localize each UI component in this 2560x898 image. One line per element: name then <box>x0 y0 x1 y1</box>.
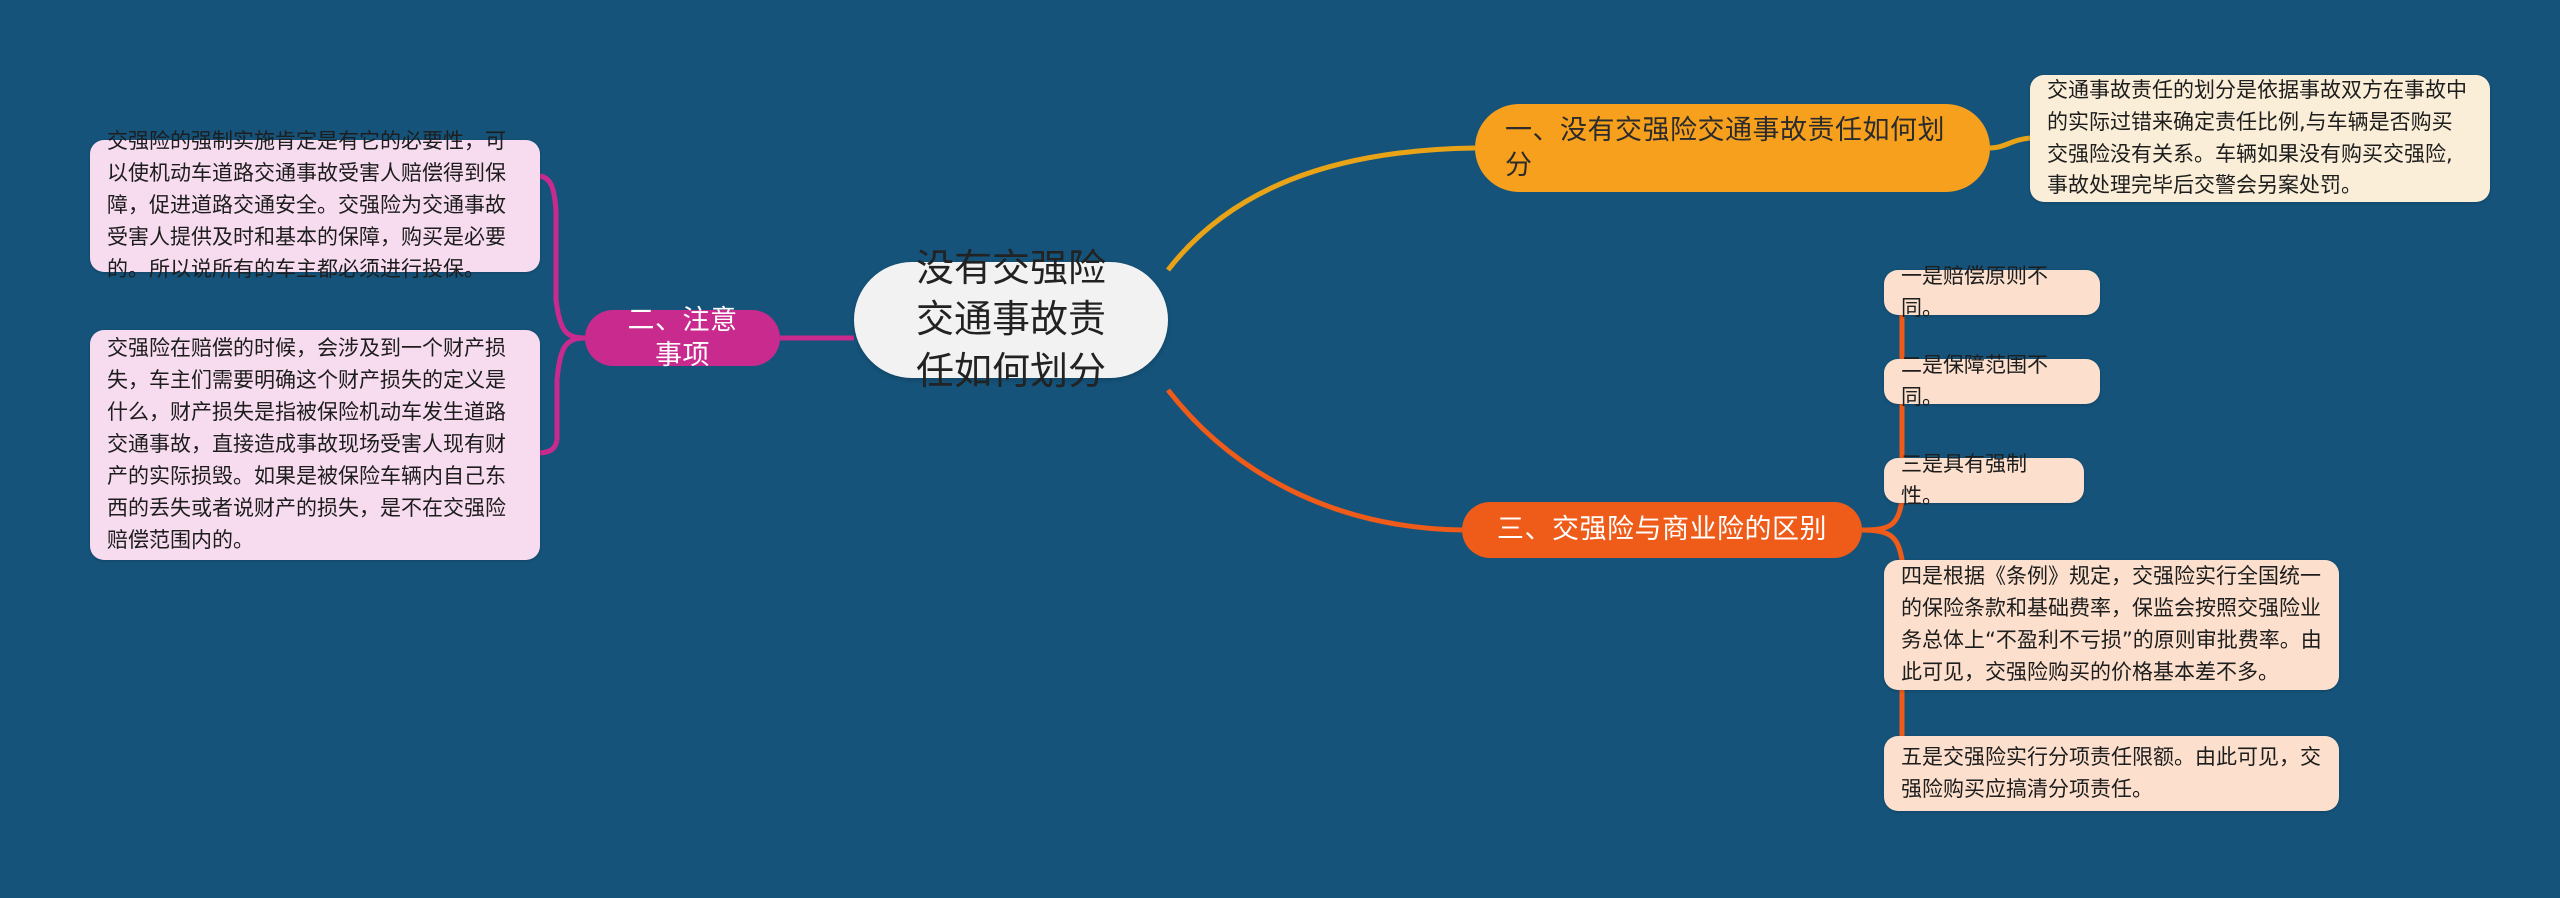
leaf-node-1-1[interactable]: 交通事故责任的划分是依据事故双方在事故中的实际过错来确定责任比例,与车辆是否购买… <box>2030 75 2490 202</box>
leaf-node-3-2-text: 二是保障范围不同。 <box>1901 350 2083 414</box>
root-node-label: 没有交强险交通事故责任如何划分 <box>898 243 1124 397</box>
leaf-node-3-1[interactable]: 一是赔偿原则不同。 <box>1884 270 2100 315</box>
edge-branch-2-spine <box>556 210 585 338</box>
edge-root-to-branch-3 <box>1168 390 1462 530</box>
leaf-node-2-1-text: 交强险的强制实施肯定是有它的必要性，可以使机动车道路交通事故受害人赔偿得到保障，… <box>107 126 523 286</box>
edge-branch-2-spine-down <box>557 338 585 440</box>
edge-branch-1-to-leaf-1-1 <box>1990 138 2030 148</box>
leaf-node-3-3-text: 三是具有强制性。 <box>1901 449 2067 513</box>
leaf-node-3-2[interactable]: 二是保障范围不同。 <box>1884 359 2100 404</box>
branch-node-1-label: 一、没有交强险交通事故责任如何划分 <box>1505 113 1960 183</box>
edge-root-to-branch-1 <box>1168 148 1475 270</box>
leaf-node-3-3[interactable]: 三是具有强制性。 <box>1884 458 2084 503</box>
leaf-node-1-1-text: 交通事故责任的划分是依据事故双方在事故中的实际过错来确定责任比例,与车辆是否购买… <box>2047 75 2473 203</box>
leaf-node-3-1-text: 一是赔偿原则不同。 <box>1901 261 2083 325</box>
leaf-node-3-4-text: 四是根据《条例》规定，交强险实行全国统一的保险条款和基础费率，保监会按照交强险业… <box>1901 561 2322 689</box>
branch-node-2[interactable]: 二、注意事项 <box>585 310 780 366</box>
leaf-node-3-5-text: 五是交强险实行分项责任限额。由此可见，交强险购买应搞清分项责任。 <box>1901 742 2322 806</box>
branch-node-3[interactable]: 三、交强险与商业险的区别 <box>1462 502 1862 558</box>
leaf-node-2-1[interactable]: 交强险的强制实施肯定是有它的必要性，可以使机动车道路交通事故受害人赔偿得到保障，… <box>90 140 540 272</box>
branch-node-3-label: 三、交强险与商业险的区别 <box>1492 512 1832 547</box>
leaf-node-2-2[interactable]: 交强险在赔偿的时候，会涉及到一个财产损失，车主们需要明确这个财产损失的定义是什么… <box>90 330 540 560</box>
leaf-node-3-4[interactable]: 四是根据《条例》规定，交强险实行全国统一的保险条款和基础费率，保监会按照交强险业… <box>1884 560 2339 690</box>
root-node[interactable]: 没有交强险交通事故责任如何划分 <box>854 262 1168 378</box>
branch-node-1[interactable]: 一、没有交强险交通事故责任如何划分 <box>1475 104 1990 192</box>
leaf-node-2-2-text: 交强险在赔偿的时候，会涉及到一个财产损失，车主们需要明确这个财产损失的定义是什么… <box>107 333 523 556</box>
branch-node-2-label: 二、注意事项 <box>615 303 750 373</box>
edge-branch-2-to-leaf-2-1 <box>540 176 556 210</box>
edge-branch-2-to-leaf-2-2 <box>540 440 557 453</box>
mindmap-canvas: 没有交强险交通事故责任如何划分 一、没有交强险交通事故责任如何划分 交通事故责任… <box>0 0 2560 898</box>
leaf-node-3-5[interactable]: 五是交强险实行分项责任限额。由此可见，交强险购买应搞清分项责任。 <box>1884 736 2339 811</box>
